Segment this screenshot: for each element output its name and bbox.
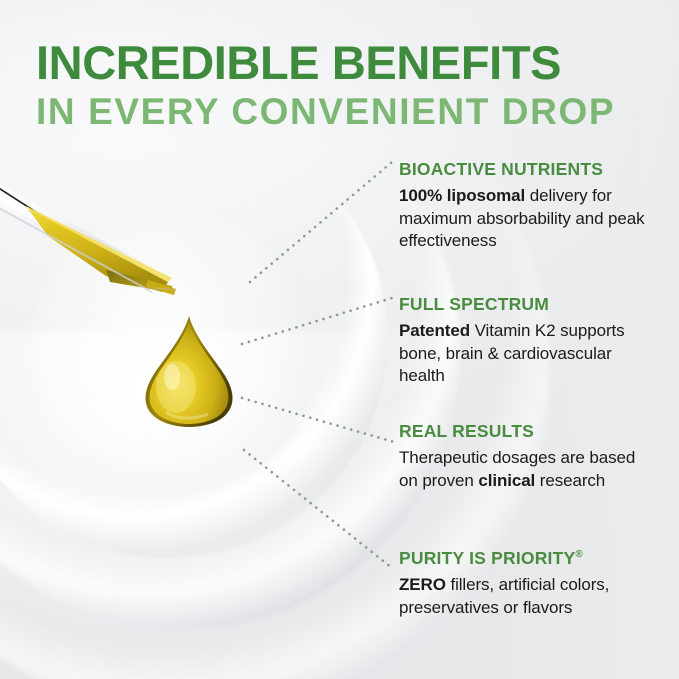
- benefit-block-full-spectrum: FULL SPECTRUM Patented Vitamin K2 suppor…: [399, 295, 651, 388]
- benefit-block-real-results: REAL RESULTS Therapeutic dosages are bas…: [399, 422, 651, 492]
- registered-trademark-symbol: ®: [575, 549, 583, 560]
- connector-line-3: [238, 392, 398, 448]
- page-title: INCREDIBLE BENEFITS IN EVERY CONVENIENT …: [36, 39, 650, 130]
- benefit-body-emphasis: 100% liposomal: [399, 186, 525, 205]
- benefit-body-emphasis: Patented: [399, 321, 470, 340]
- headline-line-2: IN EVERY CONVENIENT DROP: [36, 93, 650, 130]
- connector-line-1: [246, 158, 396, 286]
- benefit-body: Therapeutic dosages are based on proven …: [399, 447, 651, 492]
- benefit-heading: BIOACTIVE NUTRIENTS: [399, 160, 651, 179]
- connector-line-2: [238, 292, 396, 350]
- benefit-heading: FULL SPECTRUM: [399, 295, 651, 314]
- connector-line-4: [240, 446, 396, 572]
- benefit-heading: REAL RESULTS: [399, 422, 651, 441]
- benefit-body: ZERO fillers, artificial colors, preserv…: [399, 574, 651, 619]
- benefit-body-emphasis: ZERO: [399, 575, 446, 594]
- oil-drop-icon: [136, 315, 242, 427]
- glass-dropper-icon: [0, 150, 196, 300]
- benefit-block-bioactive-nutrients: BIOACTIVE NUTRIENTS 100% liposomal deliv…: [399, 160, 651, 253]
- infographic-canvas: INCREDIBLE BENEFITS IN EVERY CONVENIENT …: [0, 0, 679, 679]
- benefit-body-emphasis: clinical: [478, 471, 535, 490]
- headline-line-1: INCREDIBLE BENEFITS: [36, 39, 650, 86]
- benefit-block-purity-is-priority: PURITY IS PRIORITY® ZERO fillers, artifi…: [399, 549, 651, 619]
- benefit-heading-text: FULL SPECTRUM: [399, 294, 549, 314]
- benefit-body: 100% liposomal delivery for maximum abso…: [399, 185, 651, 252]
- benefit-heading: PURITY IS PRIORITY®: [399, 549, 651, 568]
- benefit-heading-text: BIOACTIVE NUTRIENTS: [399, 159, 603, 179]
- benefit-body: Patented Vitamin K2 supports bone, brain…: [399, 320, 651, 387]
- benefit-heading-text: PURITY IS PRIORITY: [399, 548, 575, 568]
- benefit-heading-text: REAL RESULTS: [399, 421, 534, 441]
- benefit-body-text-2: research: [535, 471, 605, 490]
